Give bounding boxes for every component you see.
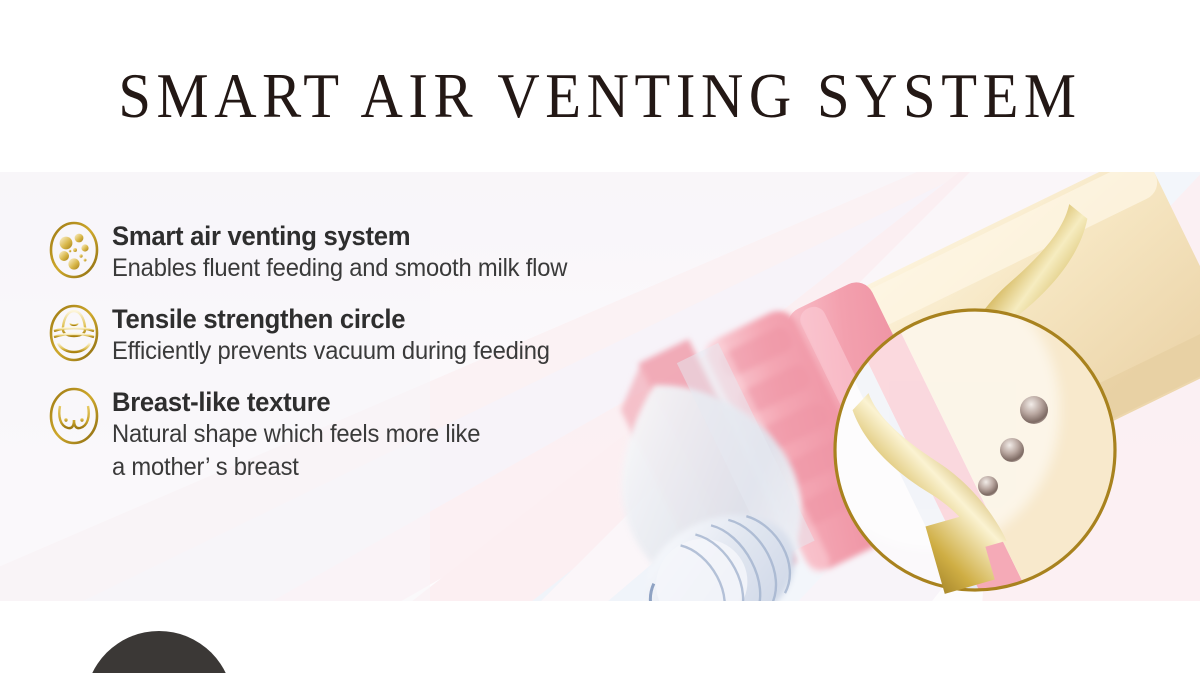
header-band: SMART AIR VENTING SYSTEM <box>0 0 1200 172</box>
feature-title: Tensile strengthen circle <box>112 303 678 335</box>
feature-description-line2: a mother’ s breast <box>112 451 678 484</box>
infographic-root: SMART AIR VENTING SYSTEM <box>0 0 1200 673</box>
feature-item-smart-air-venting-system: Smart air venting system Enables fluent … <box>48 218 708 285</box>
feature-list: Smart air venting system Enables fluent … <box>48 218 708 500</box>
feature-text-block: Breast-like texture Natural shape which … <box>112 384 708 484</box>
feature-description: Natural shape which feels more like <box>112 418 678 451</box>
feature-title: Breast-like texture <box>112 386 678 418</box>
feature-item-tensile-strengthen-circle: Tensile strengthen circle Efficiently pr… <box>48 301 708 368</box>
air-bubbles-circle-icon <box>48 220 100 280</box>
feature-item-breast-like-texture: Breast-like texture Natural shape which … <box>48 384 708 484</box>
breast-shape-circle-icon <box>48 386 100 446</box>
feature-title: Smart air venting system <box>112 220 678 252</box>
page-title: SMART AIR VENTING SYSTEM <box>42 58 1158 134</box>
feature-description: Enables fluent feeding and smooth milk f… <box>112 252 678 285</box>
feature-description: Efficiently prevents vacuum during feedi… <box>112 335 678 368</box>
feature-text-block: Smart air venting system Enables fluent … <box>112 218 708 285</box>
nipple-tensile-circle-icon <box>48 303 100 363</box>
feature-text-block: Tensile strengthen circle Efficiently pr… <box>112 301 708 368</box>
